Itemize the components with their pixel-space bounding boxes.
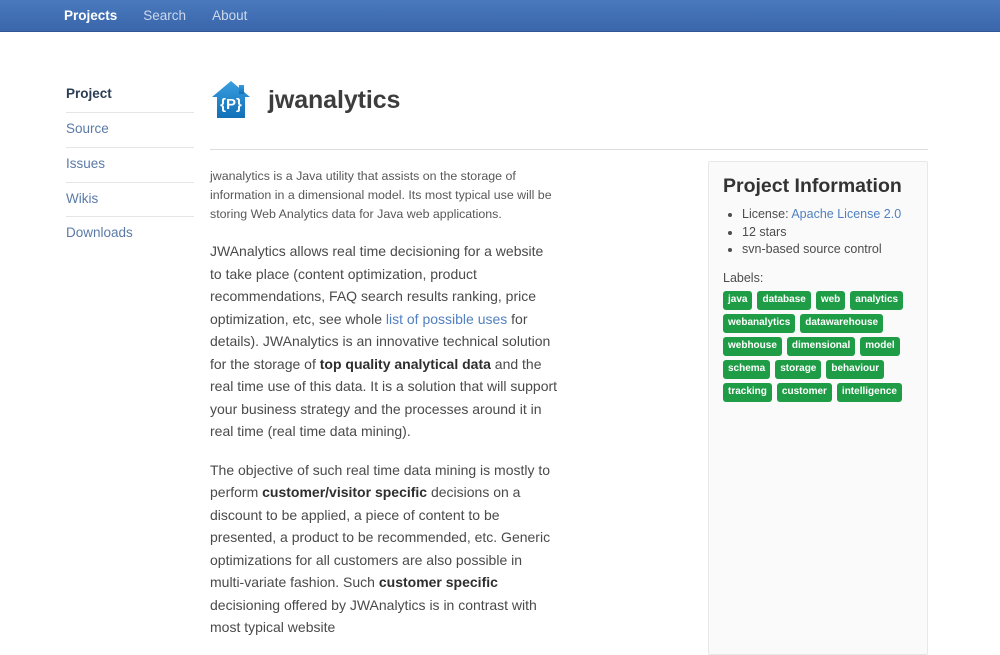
possible-uses-link[interactable]: list of possible uses bbox=[386, 311, 507, 327]
header-divider bbox=[210, 149, 928, 150]
license-link[interactable]: Apache License 2.0 bbox=[791, 207, 901, 221]
house-icon: {P} bbox=[210, 79, 252, 121]
label-tag[interactable]: database bbox=[757, 291, 810, 310]
label-tag[interactable]: behaviour bbox=[826, 360, 884, 379]
content-columns: jwanalytics is a Java utility that assis… bbox=[210, 167, 928, 655]
project-sidebar: Project Source Issues Wikis Downloads bbox=[66, 72, 194, 655]
column-spacer bbox=[558, 167, 708, 655]
para3-text-3: decisioning offered by JWAnalytics is in… bbox=[210, 597, 537, 636]
label-tag[interactable]: storage bbox=[775, 360, 821, 379]
label-tag[interactable]: web bbox=[816, 291, 845, 310]
project-description: jwanalytics is a Java utility that assis… bbox=[210, 167, 558, 655]
label-tag[interactable]: schema bbox=[723, 360, 770, 379]
description-summary: jwanalytics is a Java utility that assis… bbox=[210, 167, 558, 224]
info-item-source-control: svn-based source control bbox=[742, 241, 913, 259]
sidebar-item-wikis[interactable]: Wikis bbox=[66, 183, 194, 218]
para2-bold: top quality analytical data bbox=[320, 356, 491, 372]
para3-bold-2: customer specific bbox=[379, 574, 498, 590]
info-item-license: License: Apache License 2.0 bbox=[742, 206, 913, 224]
label-tag[interactable]: java bbox=[723, 291, 752, 310]
main-content: {P} jwanalytics jwanalytics is a Java ut… bbox=[210, 72, 928, 655]
info-panel-list: License: Apache License 2.0 12 stars svn… bbox=[723, 206, 913, 259]
description-paragraph-2: JWAnalytics allows real time decisioning… bbox=[210, 240, 558, 443]
label-tag[interactable]: datawarehouse bbox=[800, 314, 883, 333]
label-tag[interactable]: tracking bbox=[723, 383, 772, 402]
sidebar-item-issues[interactable]: Issues bbox=[66, 148, 194, 183]
nav-item-search[interactable]: Search bbox=[143, 9, 186, 23]
info-item-stars: 12 stars bbox=[742, 224, 913, 242]
labels-caption: Labels: bbox=[723, 271, 913, 285]
nav-item-projects[interactable]: Projects bbox=[64, 9, 117, 23]
label-tag[interactable]: customer bbox=[777, 383, 832, 402]
project-information-panel: Project Information License: Apache Lice… bbox=[708, 161, 928, 655]
nav-item-about[interactable]: About bbox=[212, 9, 247, 23]
license-label: License: bbox=[742, 207, 791, 221]
label-tag[interactable]: webhouse bbox=[723, 337, 782, 356]
sidebar-item-source[interactable]: Source bbox=[66, 113, 194, 148]
page-title: jwanalytics bbox=[268, 88, 400, 113]
svg-text:{P}: {P} bbox=[220, 96, 242, 113]
info-panel-title: Project Information bbox=[723, 175, 913, 198]
para3-bold-1: customer/visitor specific bbox=[262, 484, 427, 500]
label-tag[interactable]: webanalytics bbox=[723, 314, 795, 333]
page-body: Project Source Issues Wikis Downloads {P… bbox=[0, 32, 1000, 655]
project-header: {P} jwanalytics bbox=[210, 72, 928, 128]
sidebar-item-downloads[interactable]: Downloads bbox=[66, 217, 194, 251]
label-tag[interactable]: model bbox=[860, 337, 899, 356]
sidebar-item-project[interactable]: Project bbox=[66, 78, 194, 113]
label-tag[interactable]: dimensional bbox=[787, 337, 855, 356]
top-navbar: Projects Search About bbox=[0, 0, 1000, 32]
label-tag[interactable]: intelligence bbox=[837, 383, 902, 402]
description-paragraph-3: The objective of such real time data min… bbox=[210, 459, 558, 639]
label-tag-list: java database web analytics webanalytics… bbox=[723, 291, 913, 402]
label-tag[interactable]: analytics bbox=[850, 291, 903, 310]
